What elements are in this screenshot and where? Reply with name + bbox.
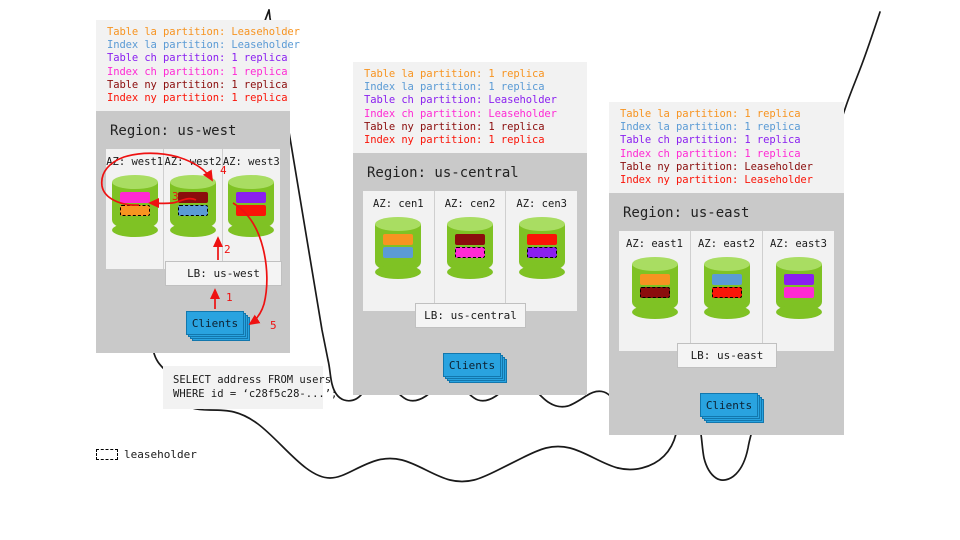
partition-line: Index ch partition: 1 replica [96, 66, 290, 79]
partition-line: Index la partition: 1 replica [353, 81, 587, 94]
partition-line: Table ch partition: 1 replica [96, 52, 290, 65]
az-cell-east3[interactable]: AZ: east3 [763, 231, 834, 351]
flow-step-4: 4 [220, 164, 227, 177]
clients-label: Clients [443, 353, 501, 377]
sql-query-box: SELECT address FROM users WHERE id = ‘c2… [163, 366, 323, 409]
replica-bands [447, 234, 493, 258]
partition-line: Table la partition: 1 replica [609, 108, 844, 121]
legend-leaseholder: leaseholder [96, 448, 197, 461]
replica-bands [228, 192, 274, 216]
replica-band-index-la [712, 274, 742, 285]
flow-step-3: 3 [172, 190, 179, 203]
legend-label: leaseholder [124, 448, 197, 461]
az-label: AZ: east3 [770, 238, 827, 250]
az-cell-east1[interactable]: AZ: east1 [619, 231, 691, 351]
cylinder-top [776, 257, 822, 271]
replica-band-table-la [383, 234, 413, 245]
az-label: AZ: east1 [626, 238, 683, 250]
node-cylinder-cen3[interactable] [519, 217, 565, 279]
clients-label: Clients [700, 393, 758, 417]
az-strip-us-west: AZ: west1 AZ: west2 [106, 149, 280, 269]
replica-band-table-ny [455, 234, 485, 245]
flow-step-5: 5 [270, 319, 277, 332]
az-label: AZ: cen3 [516, 198, 567, 210]
sql-line-2: WHERE id = ‘c28f5c28-...’; [173, 387, 313, 401]
partition-line: Table la partition: Leaseholder [96, 26, 290, 39]
replica-bands [375, 234, 421, 258]
clients-us-east[interactable]: Clients [700, 393, 758, 417]
az-label: AZ: cen2 [445, 198, 496, 210]
node-cylinder-east1[interactable] [632, 257, 678, 319]
partition-line: Index la partition: Leaseholder [96, 39, 290, 52]
replica-band-index-la-leaseholder [178, 205, 208, 216]
region-us-east: Table la partition: 1 replica Index la p… [609, 102, 844, 435]
partition-line: Index ny partition: 1 replica [96, 92, 290, 105]
az-label: AZ: west1 [106, 156, 163, 168]
partition-summary-us-west: Table la partition: Leaseholder Index la… [96, 20, 290, 111]
az-cell-east2[interactable]: AZ: east2 [691, 231, 763, 351]
az-cell-cen1[interactable]: AZ: cen1 [363, 191, 435, 311]
replica-bands [112, 192, 158, 216]
load-balancer-us-west[interactable]: LB: us-west [165, 261, 282, 286]
region-title: Region: us-east [609, 193, 844, 231]
az-label: AZ: cen1 [373, 198, 424, 210]
cylinder-top [632, 257, 678, 271]
partition-line: Table ch partition: 1 replica [609, 134, 844, 147]
replica-band-index-ch [120, 192, 150, 203]
replica-bands [704, 274, 750, 298]
replica-band-index-ny [236, 205, 266, 216]
clients-us-west[interactable]: Clients [186, 311, 244, 335]
node-cylinder-cen1[interactable] [375, 217, 421, 279]
flow-step-2: 2 [224, 243, 231, 256]
partition-line: Table ny partition: 1 replica [96, 79, 290, 92]
replica-bands [632, 274, 678, 298]
partition-line: Index ch partition: Leaseholder [353, 108, 587, 121]
az-cell-west1[interactable]: AZ: west1 [106, 149, 164, 269]
load-balancer-us-east[interactable]: LB: us-east [677, 343, 777, 368]
node-cylinder-west2[interactable] [170, 175, 216, 237]
az-strip-us-central: AZ: cen1 AZ: cen2 [363, 191, 577, 311]
az-cell-west3[interactable]: AZ: west3 [223, 149, 280, 269]
partition-summary-us-central: Table la partition: 1 replica Index la p… [353, 62, 587, 153]
replica-band-index-ny [527, 234, 557, 245]
clients-label: Clients [186, 311, 244, 335]
replica-band-index-ch-leaseholder [455, 247, 485, 258]
az-cell-cen2[interactable]: AZ: cen2 [435, 191, 507, 311]
replica-bands [519, 234, 565, 258]
clients-us-central[interactable]: Clients [443, 353, 501, 377]
node-cylinder-west1[interactable] [112, 175, 158, 237]
region-us-central: Table la partition: 1 replica Index la p… [353, 62, 587, 395]
node-cylinder-east3[interactable] [776, 257, 822, 319]
partition-line: Table ny partition: 1 replica [353, 121, 587, 134]
partition-line: Index ny partition: Leaseholder [609, 174, 844, 187]
replica-band-index-ch [784, 287, 814, 298]
partition-line: Index ch partition: 1 replica [609, 148, 844, 161]
az-label: AZ: east2 [698, 238, 755, 250]
partition-line: Table ny partition: Leaseholder [609, 161, 844, 174]
diagram-canvas: Table la partition: Leaseholder Index la… [0, 0, 960, 540]
replica-band-table-ny [178, 192, 208, 203]
replica-band-table-ny-leaseholder [640, 287, 670, 298]
load-balancer-us-central[interactable]: LB: us-central [415, 303, 526, 328]
az-label: AZ: west2 [165, 156, 222, 168]
replica-band-table-la-leaseholder [120, 205, 150, 216]
replica-band-index-la [383, 247, 413, 258]
az-cell-cen3[interactable]: AZ: cen3 [506, 191, 577, 311]
replica-band-table-ch [784, 274, 814, 285]
cylinder-top [704, 257, 750, 271]
replica-band-index-ny-leaseholder [712, 287, 742, 298]
node-cylinder-east2[interactable] [704, 257, 750, 319]
replica-band-table-ch [236, 192, 266, 203]
replica-band-table-la [640, 274, 670, 285]
sql-line-1: SELECT address FROM users [173, 373, 313, 387]
flow-step-1: 1 [226, 291, 233, 304]
partition-line: Table ch partition: Leaseholder [353, 94, 587, 107]
leaseholder-swatch-icon [96, 449, 118, 460]
replica-bands [776, 274, 822, 298]
region-title: Region: us-west [96, 111, 290, 149]
partition-line: Index ny partition: 1 replica [353, 134, 587, 147]
az-strip-us-east: AZ: east1 AZ: east2 [619, 231, 834, 351]
node-cylinder-cen2[interactable] [447, 217, 493, 279]
replica-band-table-ch-leaseholder [527, 247, 557, 258]
az-label: AZ: west3 [223, 156, 280, 168]
partition-summary-us-east: Table la partition: 1 replica Index la p… [609, 102, 844, 193]
partition-line: Index la partition: 1 replica [609, 121, 844, 134]
region-us-west: Table la partition: Leaseholder Index la… [96, 20, 290, 353]
az-cell-west2[interactable]: AZ: west2 [164, 149, 222, 269]
partition-line: Table la partition: 1 replica [353, 68, 587, 81]
node-cylinder-west3[interactable] [228, 175, 274, 237]
region-title: Region: us-central [353, 153, 587, 191]
